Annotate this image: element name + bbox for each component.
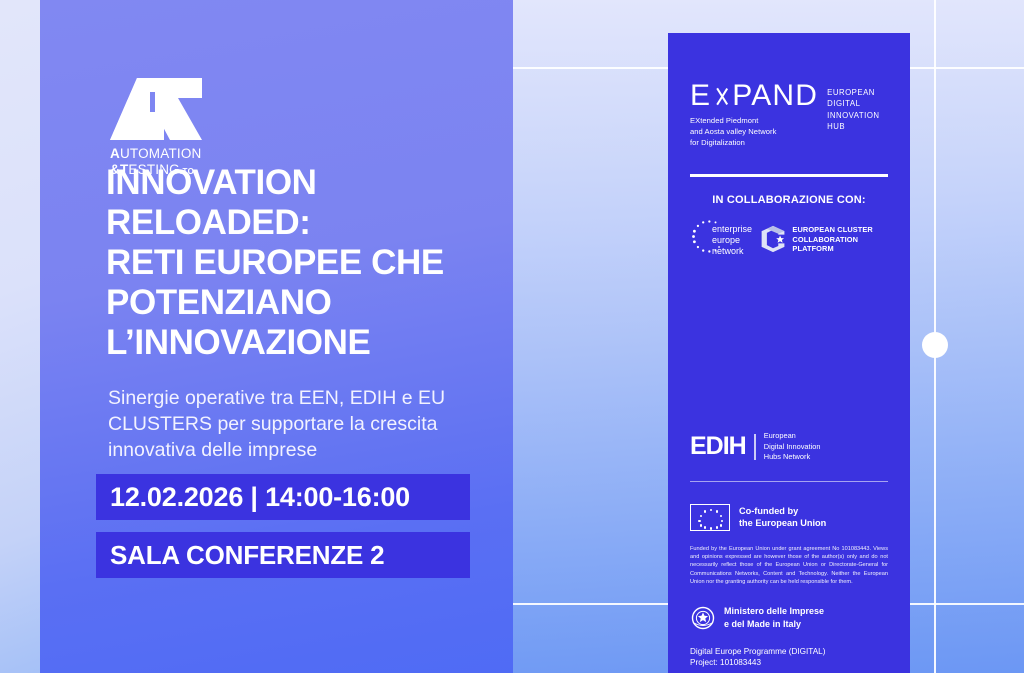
subtitle-line-3: innovativa delle imprese xyxy=(108,438,528,464)
sponsor-panel: EPAND EXtended Piedmont and Aosta valley… xyxy=(668,33,910,673)
een-wordmark: enterprise europe network xyxy=(712,224,752,257)
headline-line-3: RETI EUROPEE CHE xyxy=(106,243,536,283)
expand-x-icon xyxy=(712,87,731,106)
page-title: INNOVATION RELOADED: RETI EUROPEE CHE PO… xyxy=(106,163,536,362)
headline-line-4: POTENZIANO xyxy=(106,283,536,323)
expand-tagline: EXtended Piedmont and Aosta valley Netwo… xyxy=(690,116,818,148)
eccp-wordmark: EUROPEAN CLUSTER COLLABORATION PLATFORM xyxy=(792,225,888,253)
page-subtitle: Sinergie operative tra EEN, EDIH e EU CL… xyxy=(108,386,528,464)
eu-funding-label: Co-funded by the European Union xyxy=(739,505,826,530)
edih-logo: EDIH European Digital Innovation Hubs Ne… xyxy=(690,431,888,463)
collaboration-title: IN COLLABORAZIONE CON: xyxy=(690,194,888,206)
edih-description: European Digital Innovation Hubs Network xyxy=(764,431,821,463)
headline-line-1: INNOVATION xyxy=(106,163,536,203)
divider-strong xyxy=(690,174,888,177)
logo-word-utomation: UTOMATION xyxy=(120,146,202,161)
italian-emblem-icon xyxy=(690,603,716,633)
decor-dot-right xyxy=(922,332,948,358)
logo-mark-icon xyxy=(110,78,202,140)
programme-project: Project: 101083443 xyxy=(690,657,888,669)
divider-thin xyxy=(690,481,888,482)
expand-logo: EPAND EXtended Piedmont and Aosta valley… xyxy=(690,81,888,148)
eccp-cube-icon xyxy=(759,222,787,256)
eu-funding-logo: Co-funded by the European Union xyxy=(690,504,888,531)
expand-letter-e: E xyxy=(690,81,711,111)
left-content-panel: AUTOMATION &TESTING.TO INNOVATION RELOAD… xyxy=(40,0,513,673)
european-cluster-collaboration-platform-logo: EUROPEAN CLUSTER COLLABORATION PLATFORM xyxy=(759,222,888,256)
european-digital-innovation-hub-label: EUROPEAN DIGITAL INNOVATION HUB xyxy=(827,81,879,132)
edih-wordmark: EDIH xyxy=(690,434,746,459)
expand-wordmark: EPAND xyxy=(690,81,818,111)
programme-name: Digital Europe Programme (DIGITAL) xyxy=(690,646,888,658)
eu-flag-icon xyxy=(690,504,730,531)
ministry-logo: Ministero delle Imprese e del Made in It… xyxy=(690,603,888,633)
edih-divider xyxy=(754,434,756,460)
programme-info: Digital Europe Programme (DIGITAL) Proje… xyxy=(690,646,888,670)
subtitle-line-2: CLUSTERS per supportare la crescita xyxy=(108,412,528,438)
expand-letters-pand: PAND xyxy=(732,81,818,111)
collaboration-logos: enterprise europe network EUROPEAN CLUST… xyxy=(690,218,888,260)
headline-line-2: RELOADED: xyxy=(106,203,536,243)
logo-word-a: A xyxy=(110,146,120,161)
headline-line-5: L’INNOVAZIONE xyxy=(106,323,536,363)
ministry-name: Ministero delle Imprese e del Made in It… xyxy=(724,605,824,629)
subtitle-line-1: Sinergie operative tra EEN, EDIH e EU xyxy=(108,386,528,412)
event-datetime-badge: 12.02.2026 | 14:00-16:00 xyxy=(96,474,470,520)
funding-disclaimer: Funded by the European Union under grant… xyxy=(690,545,888,587)
enterprise-europe-network-logo: enterprise europe network xyxy=(690,218,753,260)
event-room-badge: SALA CONFERENZE 2 xyxy=(96,532,470,578)
edih-network-block: EDIH European Digital Innovation Hubs Ne… xyxy=(690,431,888,669)
